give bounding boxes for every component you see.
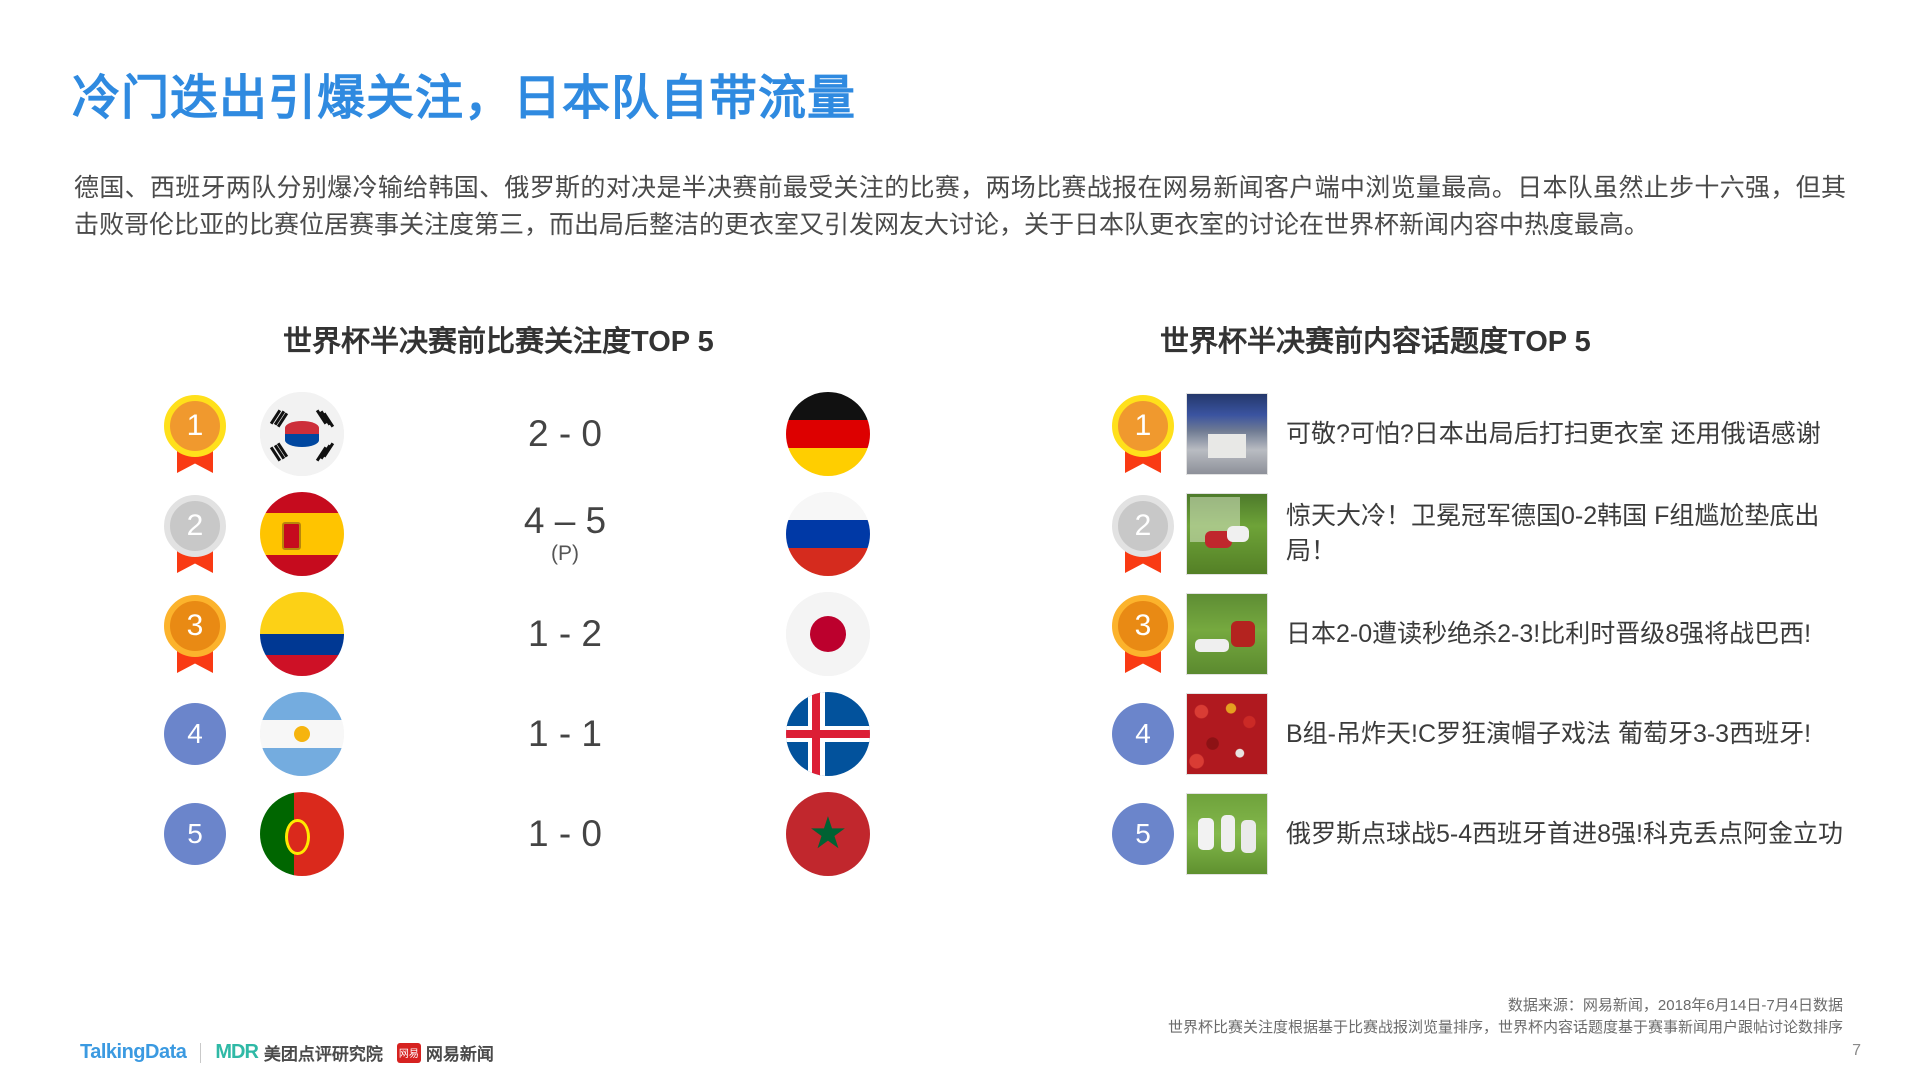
topic-headline[interactable]: 可敬?可怕?日本出局后打扫更衣室 还用俄语感谢: [1286, 417, 1860, 452]
topic-thumbnail: [1186, 593, 1268, 675]
mdr-mark: MDR: [215, 1041, 258, 1064]
rank-cell: 3: [130, 595, 260, 673]
match-list: 1 2 - 0: [130, 385, 870, 885]
rank-badge: 4: [164, 703, 226, 765]
rank-number: 3: [1112, 595, 1174, 657]
topic-row[interactable]: 2 惊天大冷！卫冕冠军德国0-2韩国 F组尴尬垫底出局！: [1100, 485, 1860, 583]
match-row[interactable]: 1 2 - 0: [130, 385, 870, 483]
rank-cell: 2: [1100, 495, 1186, 573]
medal-icon: 2: [1112, 495, 1174, 573]
topic-headline[interactable]: 惊天大冷！卫冕冠军德国0-2韩国 F组尴尬垫底出局！: [1286, 499, 1860, 569]
mdr-label: 美团点评研究院: [264, 1040, 383, 1065]
source-line-2: 世界杯比赛关注度根据基于比赛战报浏览量排序，世界杯内容话题度基于赛事新闻用户跟帖…: [643, 1017, 1843, 1039]
rank-number: 2: [164, 495, 226, 557]
score-value: 1 - 1: [528, 713, 602, 754]
footer-logos: TalkingData MDR 美团点评研究院 网易 网易新闻: [80, 1040, 494, 1065]
rank-number: 4: [1112, 703, 1174, 765]
topic-headline[interactable]: B组-吊炸天!C罗狂演帽子戏法 葡萄牙3-3西班牙!: [1286, 717, 1860, 752]
score-value: 4 – 5: [524, 500, 606, 541]
topic-thumbnail: [1186, 493, 1268, 575]
rank-number: 4: [164, 703, 226, 765]
rank-cell: 5: [1100, 803, 1186, 865]
flag-spain-icon: [260, 492, 344, 576]
topic-row[interactable]: 5 俄罗斯点球战5-4西班牙首进8强!科克丢点阿金立功: [1100, 785, 1860, 883]
rank-number: 1: [164, 395, 226, 457]
rank-cell: 4: [1100, 703, 1186, 765]
page-number: 7: [1852, 1042, 1861, 1060]
rank-number: 5: [164, 803, 226, 865]
flag-morocco-icon: ★: [786, 792, 870, 876]
rank-cell: 3: [1100, 595, 1186, 673]
flag-colombia-icon: [260, 592, 344, 676]
match-score: 4 – 5 (P): [344, 501, 786, 567]
match-row[interactable]: 2 4 – 5 (P): [130, 485, 870, 583]
rank-cell: 1: [1100, 395, 1186, 473]
rank-number: 3: [164, 595, 226, 657]
medal-icon: 3: [1112, 595, 1174, 673]
flag-argentina-icon: [260, 692, 344, 776]
flag-portugal-icon: [260, 792, 344, 876]
topic-row[interactable]: 3 日本2-0遭读秒绝杀2-3!比利时晋级8强将战巴西!: [1100, 585, 1860, 683]
rank-number: 5: [1112, 803, 1174, 865]
rank-number: 1: [1112, 395, 1174, 457]
logo-divider: [200, 1043, 201, 1063]
rank-number: 2: [1112, 495, 1174, 557]
source-note: 数据来源：网易新闻，2018年6月14日-7月4日数据 世界杯比赛关注度根据基于…: [643, 995, 1843, 1039]
medal-icon: 3: [164, 595, 226, 673]
lead-paragraph: 德国、西班牙两队分别爆冷输给韩国、俄罗斯的对决是半决赛前最受关注的比赛，两场比赛…: [74, 170, 1846, 244]
topic-headline[interactable]: 俄罗斯点球战5-4西班牙首进8强!科克丢点阿金立功: [1286, 817, 1860, 852]
rank-badge: 5: [1112, 803, 1174, 865]
score-value: 2 - 0: [528, 413, 602, 454]
source-line-1: 数据来源：网易新闻，2018年6月14日-7月4日数据: [643, 995, 1843, 1017]
page-title: 冷门迭出引爆关注，日本队自带流量: [72, 58, 856, 128]
score-note: (P): [344, 541, 786, 567]
match-score: 1 - 0: [344, 814, 786, 854]
medal-icon: 1: [164, 395, 226, 473]
rank-cell: 2: [130, 495, 260, 573]
match-row[interactable]: 4 1 - 1: [130, 685, 870, 783]
topic-row[interactable]: 4 B组-吊炸天!C罗狂演帽子戏法 葡萄牙3-3西班牙!: [1100, 685, 1860, 783]
topic-thumbnail: [1186, 793, 1268, 875]
talkingdata-logo: TalkingData: [80, 1041, 186, 1064]
score-value: 1 - 2: [528, 613, 602, 654]
slide: 冷门迭出引爆关注，日本队自带流量 德国、西班牙两队分别爆冷输给韩国、俄罗斯的对决…: [0, 0, 1921, 1080]
rank-cell: 4: [130, 703, 260, 765]
netease-logo: 网易 网易新闻: [397, 1040, 494, 1065]
rank-badge: 5: [164, 803, 226, 865]
mdr-logo: MDR 美团点评研究院: [215, 1040, 383, 1065]
flag-germany-icon: [786, 392, 870, 476]
topic-headline[interactable]: 日本2-0遭读秒绝杀2-3!比利时晋级8强将战巴西!: [1286, 617, 1860, 652]
right-panel-title: 世界杯半决赛前内容话题度TOP 5: [1160, 318, 1591, 360]
match-score: 1 - 1: [344, 714, 786, 754]
topic-thumbnail: [1186, 693, 1268, 775]
rank-cell: 1: [130, 395, 260, 473]
medal-icon: 2: [164, 495, 226, 573]
match-row[interactable]: 5 1 - 0 ★: [130, 785, 870, 883]
netease-mark: 网易: [397, 1043, 421, 1063]
topic-thumbnail: [1186, 393, 1268, 475]
flag-korea-icon: [260, 392, 344, 476]
match-row[interactable]: 3 1 - 2: [130, 585, 870, 683]
flag-russia-icon: [786, 492, 870, 576]
topic-list: 1 可敬?可怕?日本出局后打扫更衣室 还用俄语感谢 2 惊天大冷！卫冕冠军德国0…: [1100, 385, 1860, 885]
topic-row[interactable]: 1 可敬?可怕?日本出局后打扫更衣室 还用俄语感谢: [1100, 385, 1860, 483]
rank-badge: 4: [1112, 703, 1174, 765]
score-value: 1 - 0: [528, 813, 602, 854]
match-score: 2 - 0: [344, 414, 786, 454]
flag-japan-icon: [786, 592, 870, 676]
medal-icon: 1: [1112, 395, 1174, 473]
flag-iceland-icon: [786, 692, 870, 776]
left-panel-title: 世界杯半决赛前比赛关注度TOP 5: [283, 318, 714, 360]
netease-label: 网易新闻: [426, 1040, 494, 1065]
rank-cell: 5: [130, 803, 260, 865]
match-score: 1 - 2: [344, 614, 786, 654]
